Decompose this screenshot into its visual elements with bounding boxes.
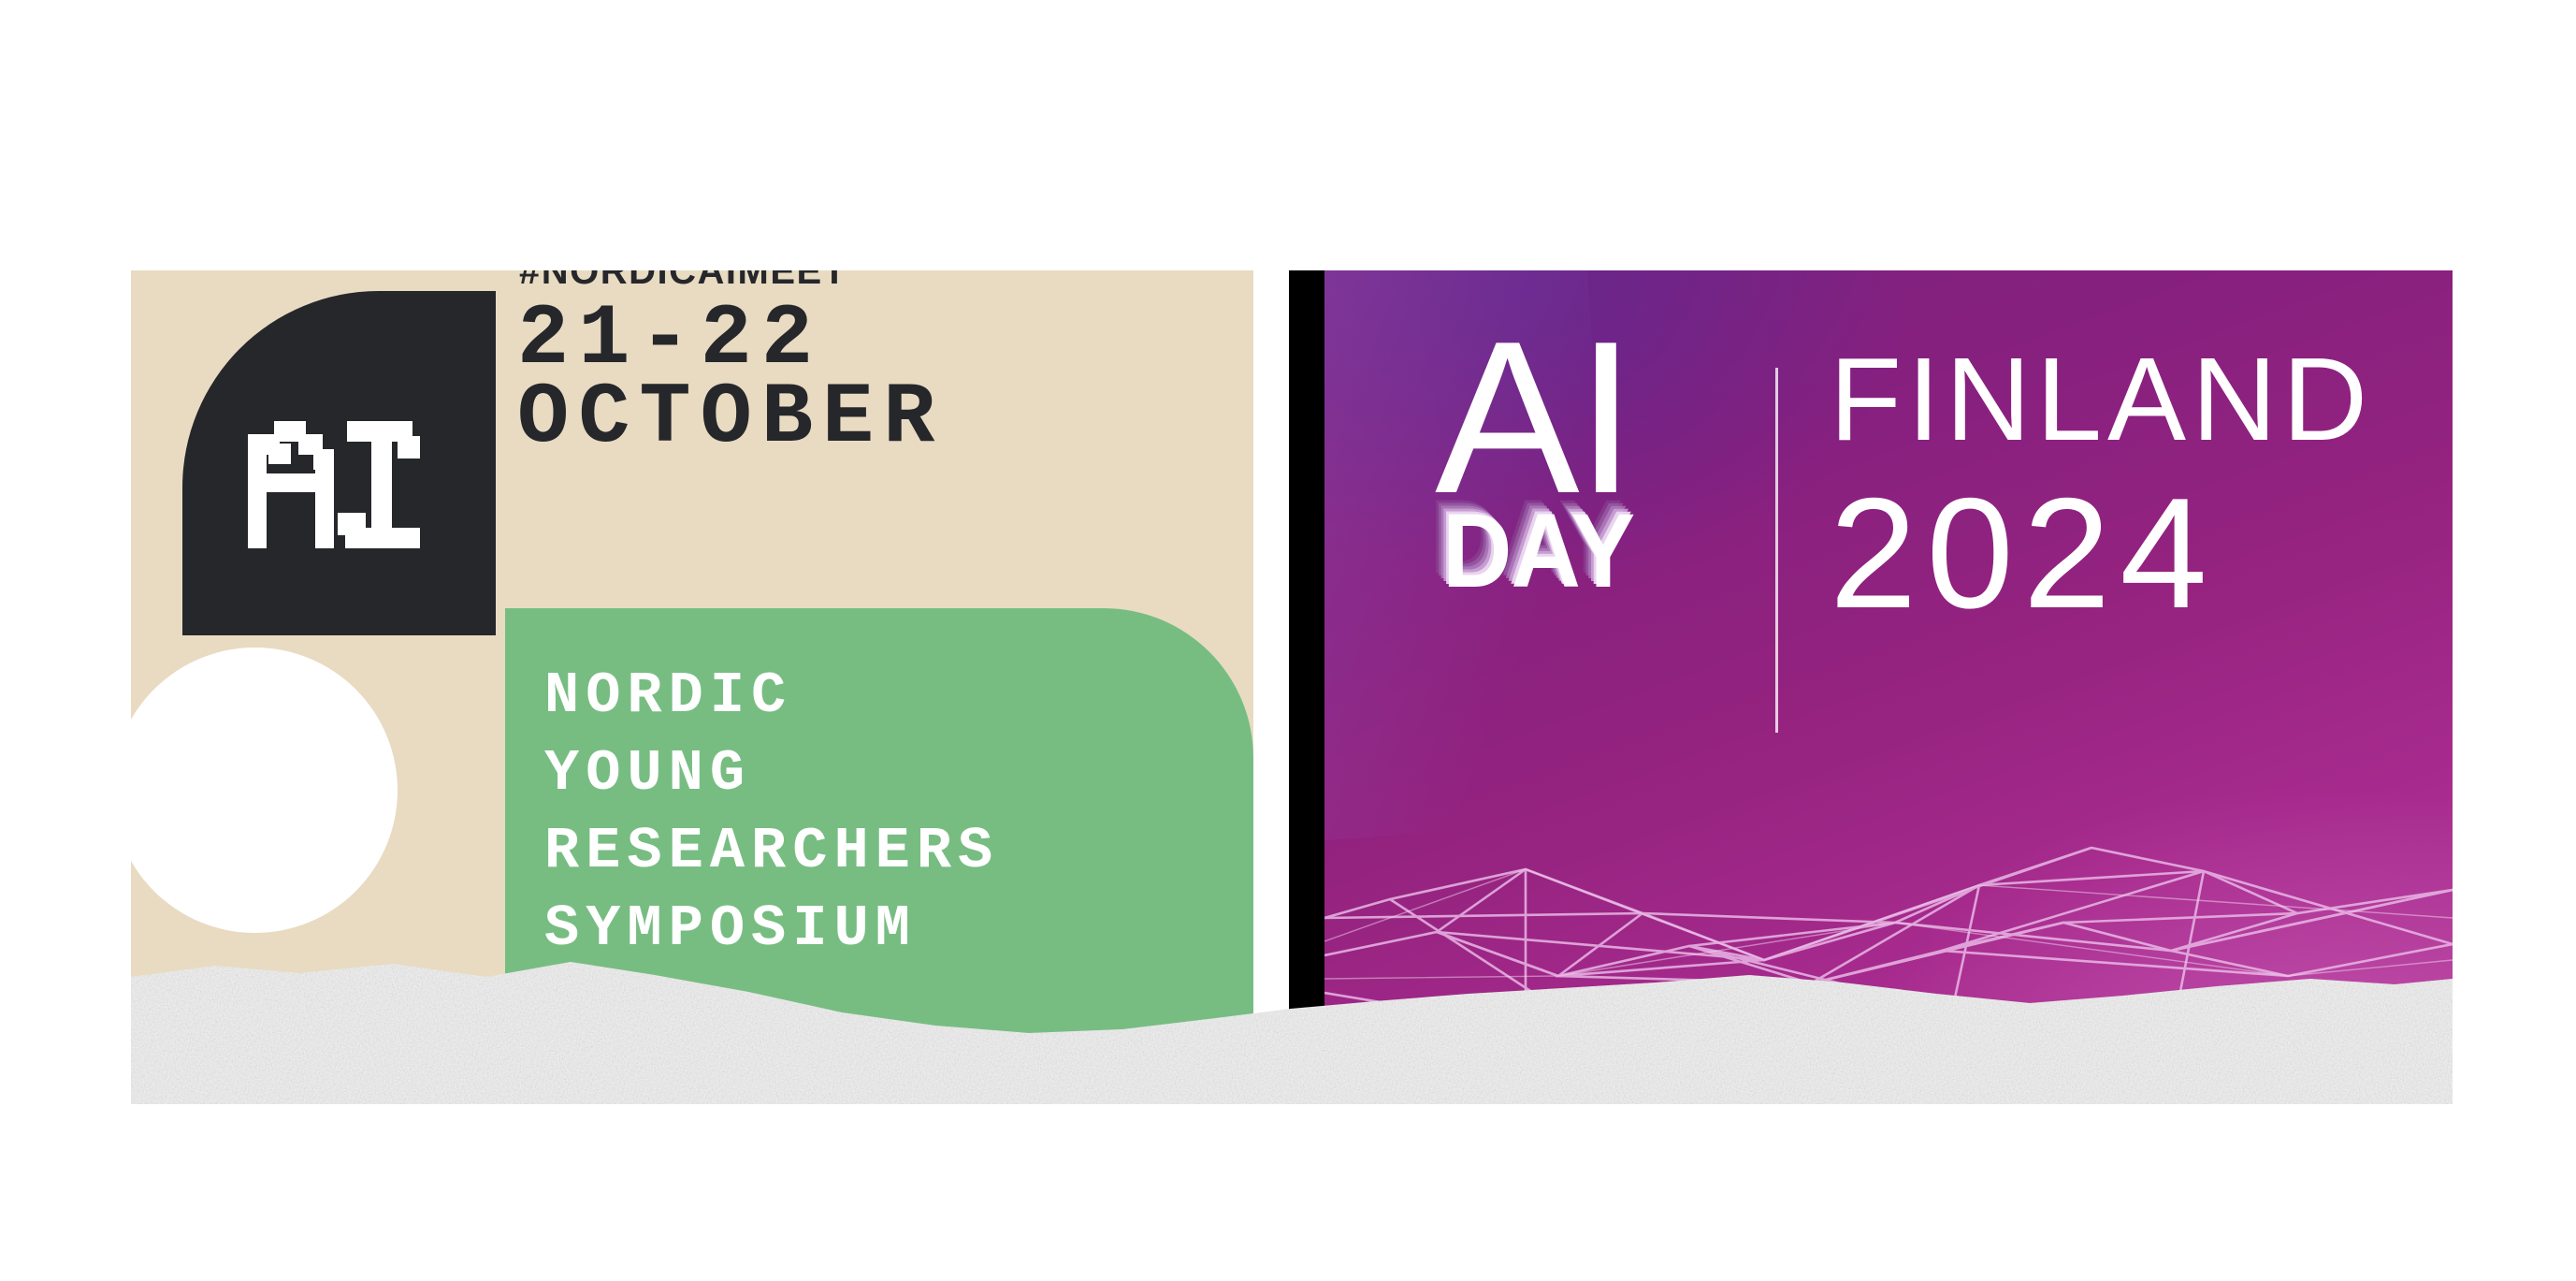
event-title-line-3: RESEARCHERS [544, 812, 999, 890]
event-title-line-1: NORDIC [544, 657, 999, 735]
green-title-panel: NORDIC YOUNG RESEARCHERS SYMPOSIUM [505, 608, 1253, 1057]
event-date-days: 21-22 [517, 300, 944, 379]
year-label: 2024 [1830, 474, 2373, 632]
event-date: 21-22 OCTOBER [517, 300, 944, 458]
network-mesh-graphic [1324, 759, 2453, 1068]
ai-wordmark: AI [1435, 327, 1651, 510]
location-year-block: FINLAND 2024 [1830, 340, 2373, 632]
lockup-divider-rule [1775, 368, 1778, 733]
decorative-circle [131, 648, 398, 933]
event-date-month: OCTOBER [517, 379, 944, 458]
banner-canvas: #NORDICAIMEET 21-22 OCTOBER NORDIC YOUNG… [0, 0, 2576, 1281]
day-wordmark: DAY [1442, 502, 1634, 600]
ai-day-lockup: AI DAY [1435, 327, 1651, 600]
country-label: FINLAND [1830, 340, 2373, 459]
left-beige-panel: #NORDICAIMEET 21-22 OCTOBER NORDIC YOUNG… [131, 270, 1253, 1057]
panel-divider [1289, 270, 1324, 1073]
pixel-ai-logo-icon [248, 408, 435, 548]
event-title-line-2: YOUNG [544, 735, 999, 812]
right-purple-panel: AI DAY FINLAND 2024 [1324, 270, 2453, 1068]
ai-logo-tile [182, 291, 496, 635]
event-title: NORDIC YOUNG RESEARCHERS SYMPOSIUM [544, 657, 999, 968]
event-title-line-4: SYMPOSIUM [544, 890, 999, 968]
